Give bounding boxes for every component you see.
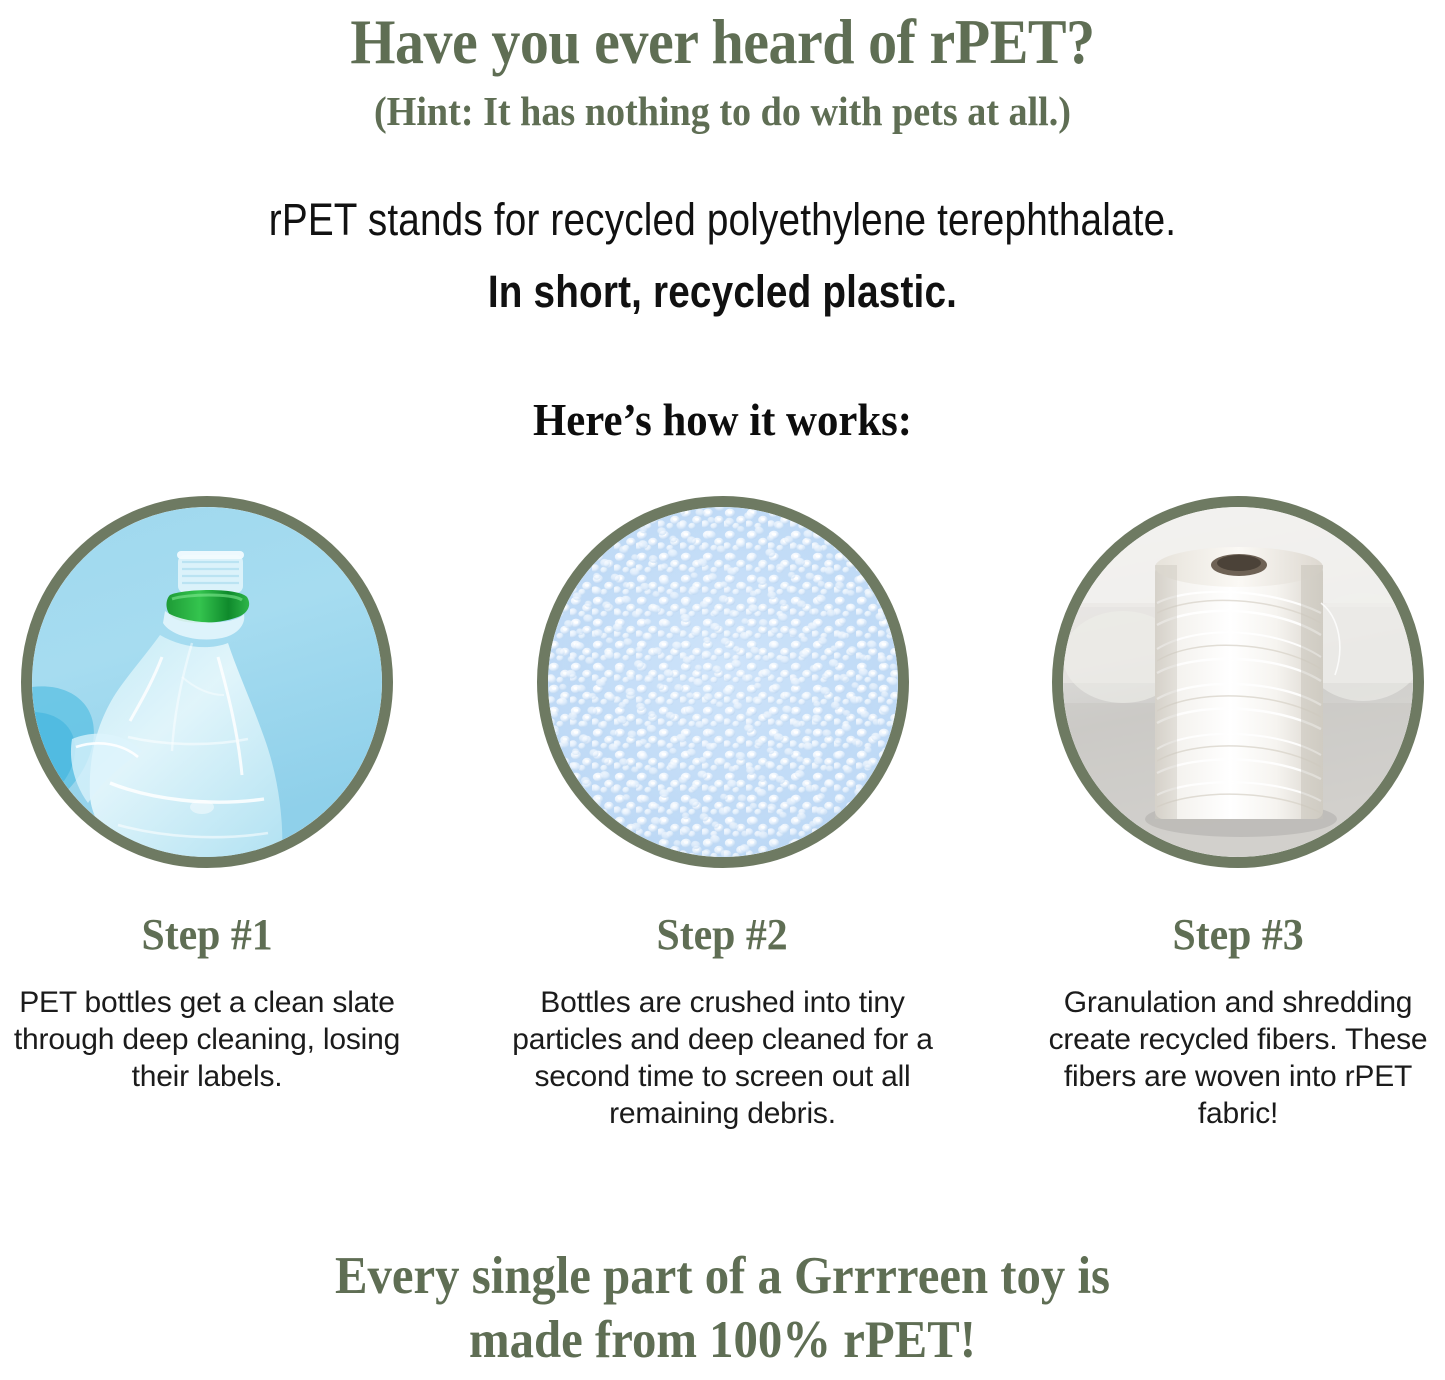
crushed-pet-bottle-photo	[32, 507, 382, 857]
infographic-page: Have you ever heard of rPET? (Hint: It h…	[0, 0, 1445, 1380]
blue-plastic-pellets-photo	[548, 507, 898, 857]
steps-row: Step #1 PET bottles get a clean slate th…	[0, 496, 1445, 1132]
definition-line-2: In short, recycled plastic.	[101, 264, 1344, 320]
footer-line-2: made from 100% rPET!	[58, 1308, 1387, 1372]
step-item-3: Step #3 Granulation and shredding create…	[1049, 496, 1427, 1132]
step-2-image-circle	[537, 496, 909, 868]
definition-block: rPET stands for recycled polyethylene te…	[0, 192, 1445, 320]
step-3-image-circle	[1052, 496, 1424, 868]
footer-line-1: Every single part of a Grrrreen toy is	[58, 1244, 1387, 1308]
white-thread-spool-photo	[1063, 507, 1413, 857]
headline-block: Have you ever heard of rPET? (Hint: It h…	[0, 0, 1445, 138]
page-title: Have you ever heard of rPET?	[58, 6, 1387, 78]
step-item-2: Step #2 Bottles are crushed into tiny pa…	[534, 496, 912, 1132]
step-1-image-circle	[21, 496, 393, 868]
step-2-label: Step #2	[657, 910, 788, 960]
footer-claim: Every single part of a Grrrreen toy is m…	[58, 1244, 1387, 1372]
step-3-description: Granulation and shredding create recycle…	[1023, 984, 1445, 1132]
step-1-description: PET bottles get a clean slate through de…	[7, 984, 407, 1095]
definition-line-1: rPET stands for recycled polyethylene te…	[101, 192, 1344, 248]
step-item-1: Step #1 PET bottles get a clean slate th…	[18, 496, 396, 1132]
step-2-description: Bottles are crushed into tiny particles …	[503, 984, 943, 1132]
headline-hint: (Hint: It has nothing to do with pets at…	[51, 84, 1395, 138]
step-3-label: Step #3	[1172, 910, 1303, 960]
how-it-works-heading: Here’s how it works:	[51, 394, 1395, 446]
step-1-label: Step #1	[141, 910, 272, 960]
